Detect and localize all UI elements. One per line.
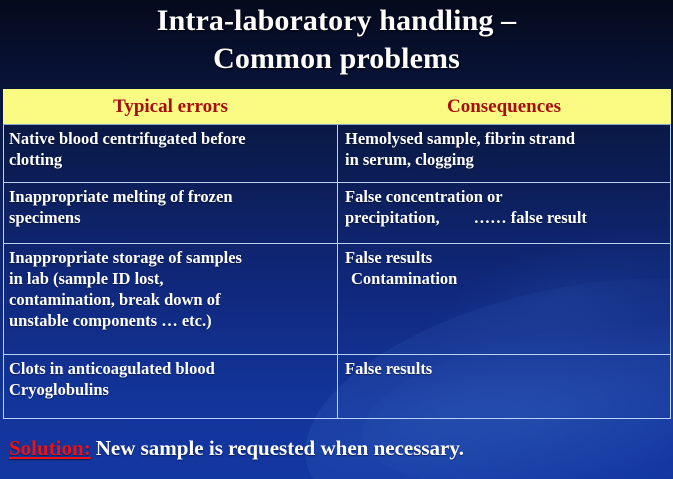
slide-canvas: Intra-laboratory handling – Common probl… (0, 0, 673, 479)
errors-consequences-table: Typical errors Consequences Native blood… (3, 89, 671, 419)
cell-text-line: clotting (9, 149, 333, 170)
cell-text-line: Contamination (345, 268, 666, 289)
cell-text-line: Hemolysed sample, fibrin strand (345, 128, 666, 149)
cell-consequence-2: False concentration or precipitation,…… … (338, 183, 671, 244)
table-row: Clots in anticoagulated blood Cryoglobul… (4, 355, 671, 419)
cell-text-line: contamination, break down of (9, 289, 333, 310)
solution-text: New sample is requested when necessary. (96, 436, 464, 460)
table-row: Inappropriate melting of frozen specimen… (4, 183, 671, 244)
cell-text-line: in serum, clogging (345, 149, 666, 170)
cell-text-line: Native blood centrifugated before (9, 128, 333, 149)
cell-consequence-1: Hemolysed sample, fibrin strand in serum… (338, 125, 671, 183)
cell-text-line: False results (345, 358, 666, 379)
solution-label: Solution: (9, 436, 91, 460)
cell-text-line: Cryoglobulins (9, 379, 333, 400)
slide-title-line-2: Common problems (0, 40, 673, 78)
solution-footer: Solution:New sample is requested when ne… (9, 436, 669, 461)
table-row: Inappropriate storage of samples in lab … (4, 244, 671, 355)
cell-text-line: Inappropriate melting of frozen (9, 186, 333, 207)
slide-title-line-1: Intra-laboratory handling – (0, 2, 673, 40)
cell-text-line: Inappropriate storage of samples (9, 247, 333, 268)
cell-text-fragment: …… false result (474, 208, 587, 227)
cell-typical-error-3: Inappropriate storage of samples in lab … (4, 244, 338, 355)
cell-text-line: Clots in anticoagulated blood (9, 358, 333, 379)
column-header-typical-errors: Typical errors (4, 90, 338, 125)
cell-text-line: specimens (9, 207, 333, 228)
cell-text-line: in lab (sample ID lost, (9, 268, 333, 289)
cell-typical-error-4: Clots in anticoagulated blood Cryoglobul… (4, 355, 338, 419)
table-header: Typical errors Consequences (4, 90, 671, 125)
cell-text-fragment: precipitation, (345, 208, 440, 227)
table-header-row: Typical errors Consequences (4, 90, 671, 125)
cell-consequence-4: False results (338, 355, 671, 419)
cell-text-line: False concentration or (345, 186, 666, 207)
cell-typical-error-1: Native blood centrifugated before clotti… (4, 125, 338, 183)
cell-typical-error-2: Inappropriate melting of frozen specimen… (4, 183, 338, 244)
table-body: Native blood centrifugated before clotti… (4, 125, 671, 419)
slide-title: Intra-laboratory handling – Common probl… (0, 2, 673, 78)
column-header-consequences: Consequences (338, 90, 671, 125)
cell-text-line: unstable components … etc.) (9, 310, 333, 331)
cell-text-line-split: precipitation,…… false result (345, 207, 666, 228)
table-row: Native blood centrifugated before clotti… (4, 125, 671, 183)
cell-consequence-3: False results Contamination (338, 244, 671, 355)
cell-text-line: False results (345, 247, 666, 268)
